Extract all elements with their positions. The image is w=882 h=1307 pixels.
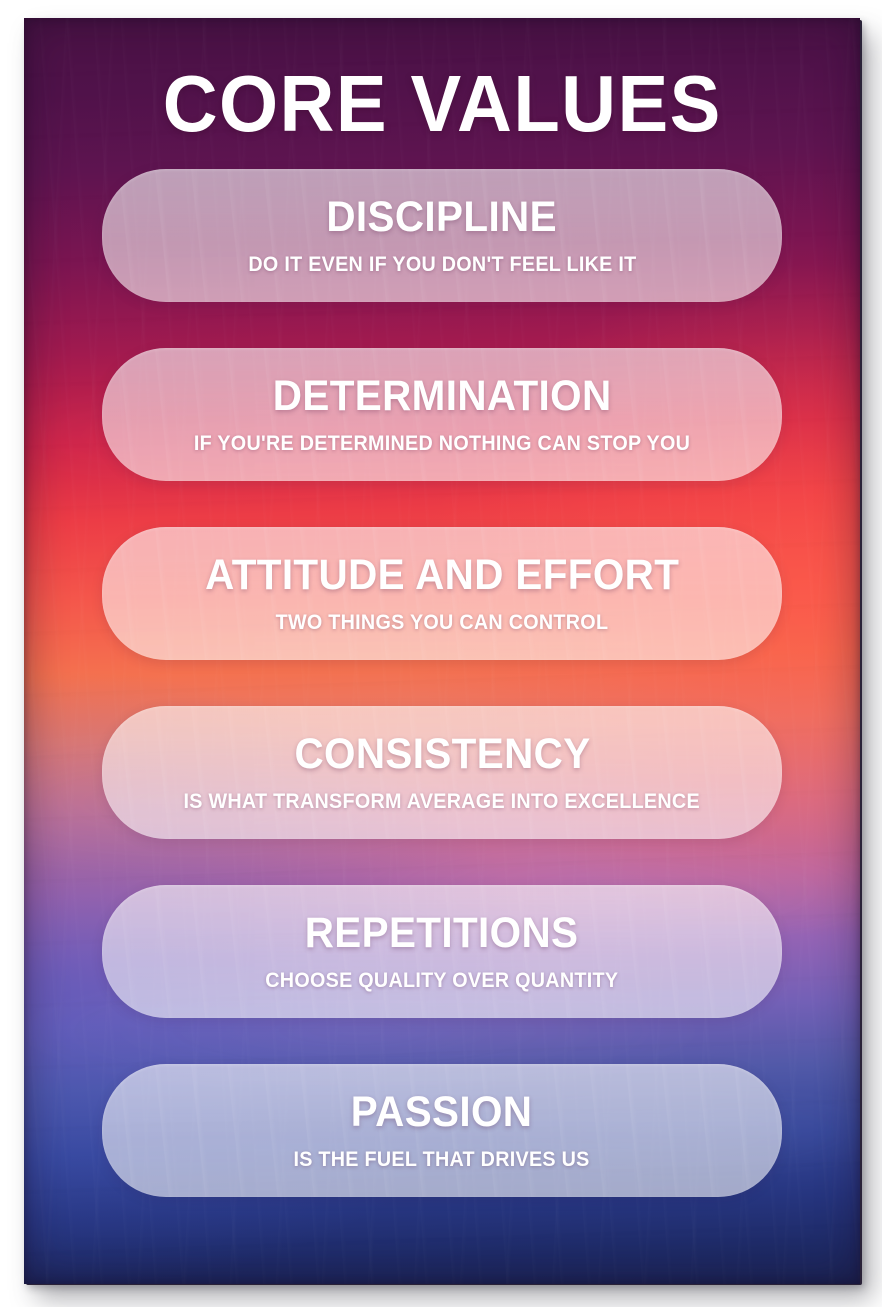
- value-card-subtitle: IF YOU'RE DETERMINED NOTHING CAN STOP YO…: [194, 433, 690, 454]
- poster-canvas: CORE VALUES DISCIPLINE DO IT EVEN IF YOU…: [24, 18, 860, 1284]
- value-card-list: DISCIPLINE DO IT EVEN IF YOU DON'T FEEL …: [24, 169, 860, 1197]
- value-card-repetitions: REPETITIONS CHOOSE QUALITY OVER QUANTITY: [102, 885, 782, 1018]
- value-card-subtitle: IS THE FUEL THAT DRIVES US: [294, 1149, 590, 1170]
- value-card-discipline: DISCIPLINE DO IT EVEN IF YOU DON'T FEEL …: [102, 169, 782, 302]
- value-card-subtitle: CHOOSE QUALITY OVER QUANTITY: [265, 970, 618, 991]
- value-card-passion: PASSION IS THE FUEL THAT DRIVES US: [102, 1064, 782, 1197]
- poster-frame: CORE VALUES DISCIPLINE DO IT EVEN IF YOU…: [0, 0, 882, 1307]
- value-card-title: ATTITUDE AND EFFORT: [205, 554, 679, 597]
- poster-content: CORE VALUES DISCIPLINE DO IT EVEN IF YOU…: [24, 18, 860, 1284]
- value-card-title: DISCIPLINE: [327, 196, 558, 239]
- value-card-title: DETERMINATION: [273, 375, 612, 418]
- value-card-subtitle: IS WHAT TRANSFORM AVERAGE INTO EXCELLENC…: [184, 791, 700, 812]
- value-card-subtitle: DO IT EVEN IF YOU DON'T FEEL LIKE IT: [248, 254, 636, 275]
- value-card-title: CONSISTENCY: [294, 733, 590, 776]
- value-card-title: REPETITIONS: [305, 912, 579, 955]
- value-card-subtitle: TWO THINGS YOU CAN CONTROL: [276, 612, 609, 633]
- value-card-attitude-and-effort: ATTITUDE AND EFFORT TWO THINGS YOU CAN C…: [102, 527, 782, 660]
- value-card-consistency: CONSISTENCY IS WHAT TRANSFORM AVERAGE IN…: [102, 706, 782, 839]
- value-card-determination: DETERMINATION IF YOU'RE DETERMINED NOTHI…: [102, 348, 782, 481]
- value-card-title: PASSION: [351, 1091, 533, 1134]
- page-title: CORE VALUES: [162, 66, 721, 143]
